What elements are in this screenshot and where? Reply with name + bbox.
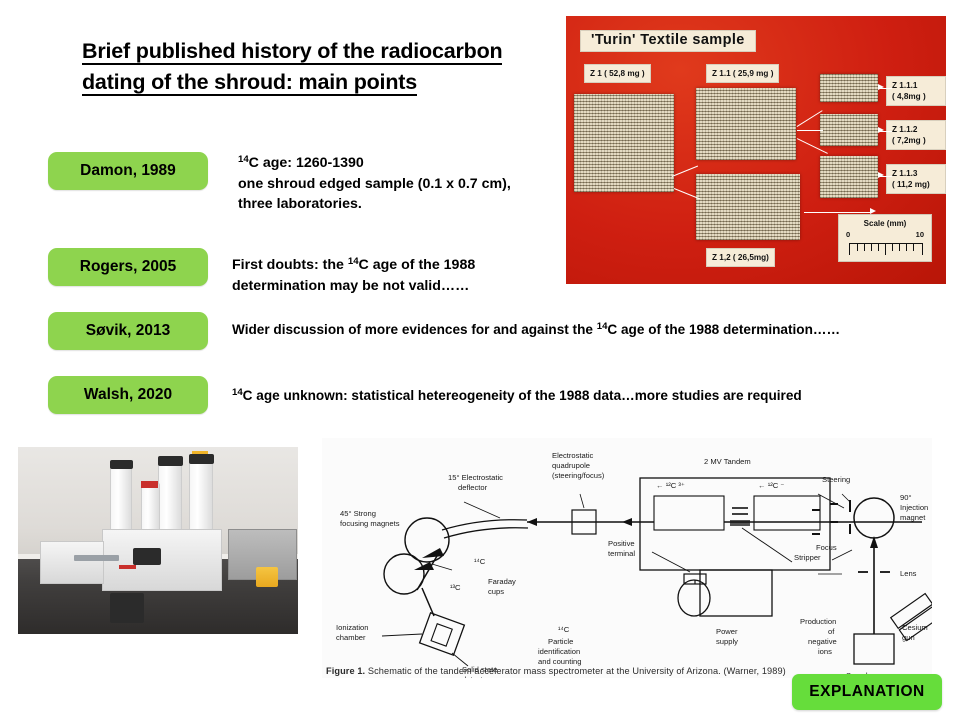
- sample-label-z1: Z 1 ( 52,8 mg ): [584, 64, 651, 83]
- photo-chamber: [102, 529, 222, 591]
- explanation-button[interactable]: EXPLANATION: [792, 674, 942, 710]
- label-production-line4: ions: [818, 647, 832, 656]
- label-production-line1: Production: [800, 617, 836, 626]
- label-injection-line3: magnet: [900, 513, 926, 522]
- citation-pill-label: Walsh, 2020: [84, 386, 172, 404]
- photo-beamline: [74, 555, 119, 561]
- citation-pill-label: Søvik, 2013: [86, 322, 170, 340]
- scale-max: 10: [916, 230, 924, 239]
- label-cesium-line1: Cesium: [902, 623, 928, 632]
- sample-label-z112: Z 1.1.2 ( 7,2mg ): [886, 120, 946, 150]
- citation-text-walsh: 14C age unknown: statistical hetereogene…: [232, 383, 802, 407]
- label-ionization-line1: Ionization: [336, 623, 369, 632]
- citation-pill-label: Rogers, 2005: [80, 258, 177, 276]
- citation-text-line: C age of the 1988: [359, 257, 476, 273]
- isotope-superscript: 14: [348, 256, 359, 267]
- label-deflector-line2: deflector: [458, 483, 488, 492]
- arrow-head-z113: [878, 172, 884, 178]
- photo-red-stripe: [119, 565, 136, 569]
- label-production-line3: negative: [808, 637, 837, 646]
- scale-min: 0: [846, 230, 850, 239]
- sample-label-z111: Z 1.1.1 ( 4,8mg ): [886, 76, 946, 106]
- label-magnets-line2: focusing magnets: [340, 519, 400, 528]
- sample-label-z113: Z 1.1.3 ( 11,2 mg): [886, 164, 946, 194]
- photo-pump: [110, 593, 144, 623]
- citation-text-pre: First doubts: the: [232, 257, 348, 273]
- label-cesium-line2: gun: [902, 633, 915, 642]
- label-quadrupole-line3: (steering/focus): [552, 471, 605, 480]
- label-positive-line1: Positive: [608, 539, 635, 548]
- page-title-line2: dating of the shroud: main points: [82, 70, 417, 96]
- citation-pill-walsh[interactable]: Walsh, 2020: [48, 376, 208, 414]
- figure-caption-number: Figure 1.: [326, 666, 365, 676]
- sample-label-z12: Z 1,2 ( 26,5mg): [706, 248, 775, 267]
- cloth-swatch-z111: [820, 74, 878, 102]
- label-injection-line1: 90°: [900, 493, 911, 502]
- photo-red-cap: [141, 481, 158, 488]
- isotope-superscript: 14: [238, 154, 249, 165]
- label-c14-detect: ¹⁴C: [558, 625, 570, 634]
- page-title: Brief published history of the radiocarb…: [82, 36, 552, 98]
- photo-yellow-container: [256, 567, 278, 588]
- label-deflector-line1: 15° Electrostatic: [448, 473, 503, 482]
- sample-label-z11: Z 1.1 ( 25,9 mg ): [706, 64, 779, 83]
- photo-black-module: [133, 548, 161, 565]
- citation-pill-sovik[interactable]: Søvik, 2013: [48, 312, 208, 350]
- scale-bar: Scale (mm) 0 10: [838, 214, 932, 262]
- label-steering: Steering: [822, 475, 850, 484]
- label-ion-minus: ← ¹²C ⁻: [758, 481, 784, 490]
- isotope-superscript: 14: [597, 321, 608, 332]
- label-production-line2: of: [828, 627, 835, 636]
- label-stripper: Stripper: [794, 553, 821, 562]
- arrow-head-z112: [878, 127, 884, 133]
- slide-canvas: Brief published history of the radiocarb…: [0, 0, 960, 720]
- scale-ruler: [849, 243, 923, 255]
- label-focus: Focus: [816, 543, 837, 552]
- citation-text-damon: 14C age: 1260-1390 one shroud edged samp…: [238, 150, 511, 215]
- label-magnets-line1: 45° Strong: [340, 509, 376, 518]
- arrow-z11-to-z112: [797, 130, 823, 131]
- label-particle-line3: and counting: [538, 657, 582, 666]
- citation-text-line: determination may be not valid……: [232, 276, 475, 297]
- cloth-swatch-z11: [696, 88, 796, 160]
- label-faraday-line1: Faraday: [488, 577, 516, 586]
- explanation-button-label: EXPLANATION: [809, 683, 924, 701]
- label-lens: Lens: [900, 569, 917, 578]
- photo-left-assembly: [40, 541, 104, 584]
- label-power-line1: Power: [716, 627, 738, 636]
- cloth-swatch-z113: [820, 156, 878, 198]
- label-tandem: 2 MV Tandem: [704, 457, 751, 466]
- isotope-superscript: 14: [232, 387, 243, 398]
- figure-caption-text: Schematic of the tandem accelerator mass…: [365, 666, 786, 676]
- photo-flange-2: [158, 456, 183, 465]
- citation-text-pre: Wider discussion of more evidences for a…: [232, 322, 597, 337]
- label-c13: ¹³C: [450, 583, 461, 592]
- citation-text-line: C age: 1260-1390: [249, 155, 364, 171]
- citation-text-rogers: First doubts: the 14C age of the 1988 de…: [232, 252, 475, 296]
- label-ionization-line2: chamber: [336, 633, 366, 642]
- cloth-swatch-z112: [820, 114, 878, 146]
- scale-title: Scale (mm): [839, 219, 931, 228]
- ams-laboratory-photo: [18, 447, 298, 634]
- citation-text-line: one shroud edged sample (0.1 x 0.7 cm),: [238, 174, 511, 195]
- label-faraday-line2: cups: [488, 587, 504, 596]
- cloth-swatch-z1: [574, 94, 674, 192]
- citation-text-line: C age of the 1988 determination……: [607, 322, 840, 337]
- schematic-svg: 45° Strong focusing magnets 15° Electros…: [322, 438, 932, 678]
- photo-flange-3: [189, 454, 214, 463]
- photo-flange-1: [110, 460, 132, 469]
- label-power-line2: supply: [716, 637, 738, 646]
- label-particle-line2: identification: [538, 647, 580, 656]
- label-particle-line1: Particle: [548, 637, 573, 646]
- label-quadrupole-line2: quadrupole: [552, 461, 590, 470]
- turin-textile-sample-image: 'Turin' Textile sample Z 1 ( 52,8 mg ) Z…: [566, 16, 946, 284]
- page-title-line1: Brief published history of the radiocarb…: [82, 39, 502, 65]
- citation-pill-damon[interactable]: Damon, 1989: [48, 152, 208, 190]
- citation-text-line: three laboratories.: [238, 194, 511, 215]
- citation-text-line: C age unknown: statistical hetereogeneit…: [243, 388, 802, 403]
- label-injection-line2: Injection: [900, 503, 928, 512]
- cloth-swatch-z12: [696, 174, 800, 240]
- label-positive-line2: terminal: [608, 549, 635, 558]
- label-quadrupole-line1: Electrostatic: [552, 451, 594, 460]
- citation-text-sovik: Wider discussion of more evidences for a…: [232, 317, 840, 341]
- turin-title-label: 'Turin' Textile sample: [580, 30, 756, 52]
- label-ion-3plus: ← ¹²C ³⁺: [656, 481, 685, 490]
- ams-schematic-diagram: 45° Strong focusing magnets 15° Electros…: [322, 438, 932, 678]
- citation-pill-rogers[interactable]: Rogers, 2005: [48, 248, 208, 286]
- citation-pill-label: Damon, 1989: [80, 162, 176, 180]
- arrow-head-z111: [878, 84, 884, 90]
- label-c14: ¹⁴C: [474, 557, 486, 566]
